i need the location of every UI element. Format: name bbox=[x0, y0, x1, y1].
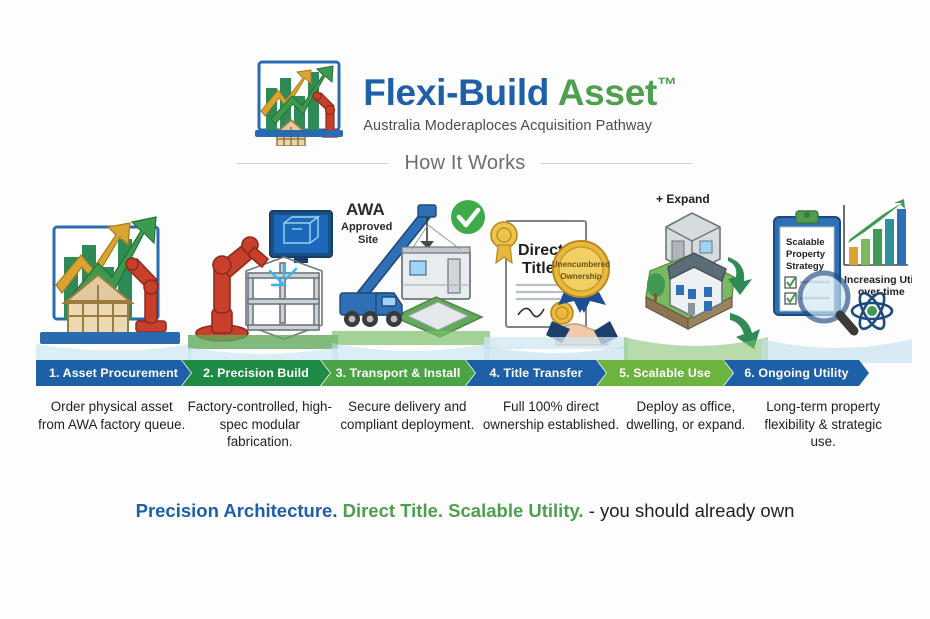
infographic-page: Flexi-Build Asset™ Australia Moderaploce… bbox=[0, 0, 930, 619]
step-description-2: Factory-controlled, high-spec modular fa… bbox=[187, 398, 332, 451]
awa-logo-text: AWA bbox=[346, 200, 385, 219]
tagline-segment-1: Precision Architecture. bbox=[136, 500, 338, 521]
step-banner-6[interactable]: 6. Ongoing Utility bbox=[724, 360, 869, 386]
step-description-5: Deploy as office, dwelling, or expand. bbox=[619, 398, 752, 451]
growth-bar-chart bbox=[844, 199, 908, 265]
step-banner-4-label: 4. Title Transfer bbox=[485, 366, 586, 380]
step-description-row: Order physical asset from AWA factory qu… bbox=[36, 398, 894, 451]
tagline-segment-3: Scalable Utility. bbox=[448, 500, 583, 521]
header: Flexi-Build Asset™ Australia Moderaploce… bbox=[0, 58, 930, 146]
divider-rule-right bbox=[541, 163, 693, 164]
title-part-1: Flexi-Build bbox=[363, 72, 549, 113]
footer-tagline: Precision Architecture. Direct Title. Sc… bbox=[0, 500, 930, 522]
step-2-illustration bbox=[188, 185, 338, 363]
step-banner-5-label: 5. Scalable Use bbox=[615, 366, 715, 380]
section-label: How It Works bbox=[405, 152, 526, 175]
step-banner-1-label: 1. Asset Procurement bbox=[45, 366, 182, 380]
svg-text:Scalable: Scalable bbox=[786, 237, 825, 248]
svg-text:Title: Title bbox=[522, 260, 555, 277]
page-title: Flexi-Build Asset™ bbox=[363, 74, 676, 111]
step-6-illustration: Increasing Utility over time Scalable Pr… bbox=[762, 185, 912, 363]
divider-rule-left bbox=[237, 163, 389, 164]
svg-text:Ownership: Ownership bbox=[560, 272, 601, 281]
step-banner-2[interactable]: 2. Precision Build bbox=[182, 360, 330, 386]
step-description-1: Order physical asset from AWA factory qu… bbox=[36, 398, 187, 451]
step-banner-1[interactable]: 1. Asset Procurement bbox=[36, 360, 191, 386]
logo-lockup: Flexi-Build Asset™ Australia Moderaploce… bbox=[253, 58, 676, 146]
expand-label-text: + Expand bbox=[656, 192, 710, 206]
svg-text:Site: Site bbox=[358, 234, 378, 246]
step-description-4: Full 100% direct ownership established. bbox=[483, 398, 620, 451]
growth-chart-house-robot-logo-icon bbox=[253, 58, 353, 146]
svg-text:Strategy: Strategy bbox=[786, 261, 825, 272]
step-banner-5[interactable]: 5. Scalable Use bbox=[597, 360, 733, 386]
trademark-symbol: ™ bbox=[657, 75, 677, 97]
svg-text:Approved: Approved bbox=[341, 221, 392, 233]
title-block: Flexi-Build Asset™ Australia Moderaploce… bbox=[363, 74, 676, 134]
step-banner-6-label: 6. Ongoing Utility bbox=[740, 366, 852, 380]
step-banner-3-label: 3. Transport & Install bbox=[332, 366, 465, 380]
step-description-3: Secure delivery and compliant deployment… bbox=[332, 398, 482, 451]
step-4-illustration: Direct Title Unencumbered Ownersh bbox=[484, 185, 628, 363]
illustration-strip: AWA Approved Site bbox=[36, 185, 894, 363]
title-part-2: Asset bbox=[558, 72, 657, 113]
svg-text:Property: Property bbox=[786, 249, 826, 260]
svg-text:Unencumbered: Unencumbered bbox=[552, 260, 610, 269]
step-banner-2-label: 2. Precision Build bbox=[199, 366, 313, 380]
tagline-segment-4: - you should already own bbox=[589, 500, 795, 521]
svg-text:Increasing Utility: Increasing Utility bbox=[844, 274, 912, 286]
step-1-illustration bbox=[36, 185, 191, 363]
step-banner-3[interactable]: 3. Transport & Install bbox=[321, 360, 475, 386]
step-description-6: Long-term property flexibility & strateg… bbox=[752, 398, 894, 451]
step-3-illustration: AWA Approved Site bbox=[332, 185, 490, 363]
page-subtitle: Australia Moderaploces Acquisition Pathw… bbox=[363, 118, 652, 134]
tagline-segment-2: Direct Title. bbox=[343, 500, 443, 521]
step-banner-4[interactable]: 4. Title Transfer bbox=[466, 360, 606, 386]
section-divider: How It Works bbox=[0, 152, 930, 175]
step-5-illustration: + Expand bbox=[624, 185, 768, 363]
step-banner-row: 1. Asset Procurement 2. Precision Build … bbox=[36, 360, 894, 386]
